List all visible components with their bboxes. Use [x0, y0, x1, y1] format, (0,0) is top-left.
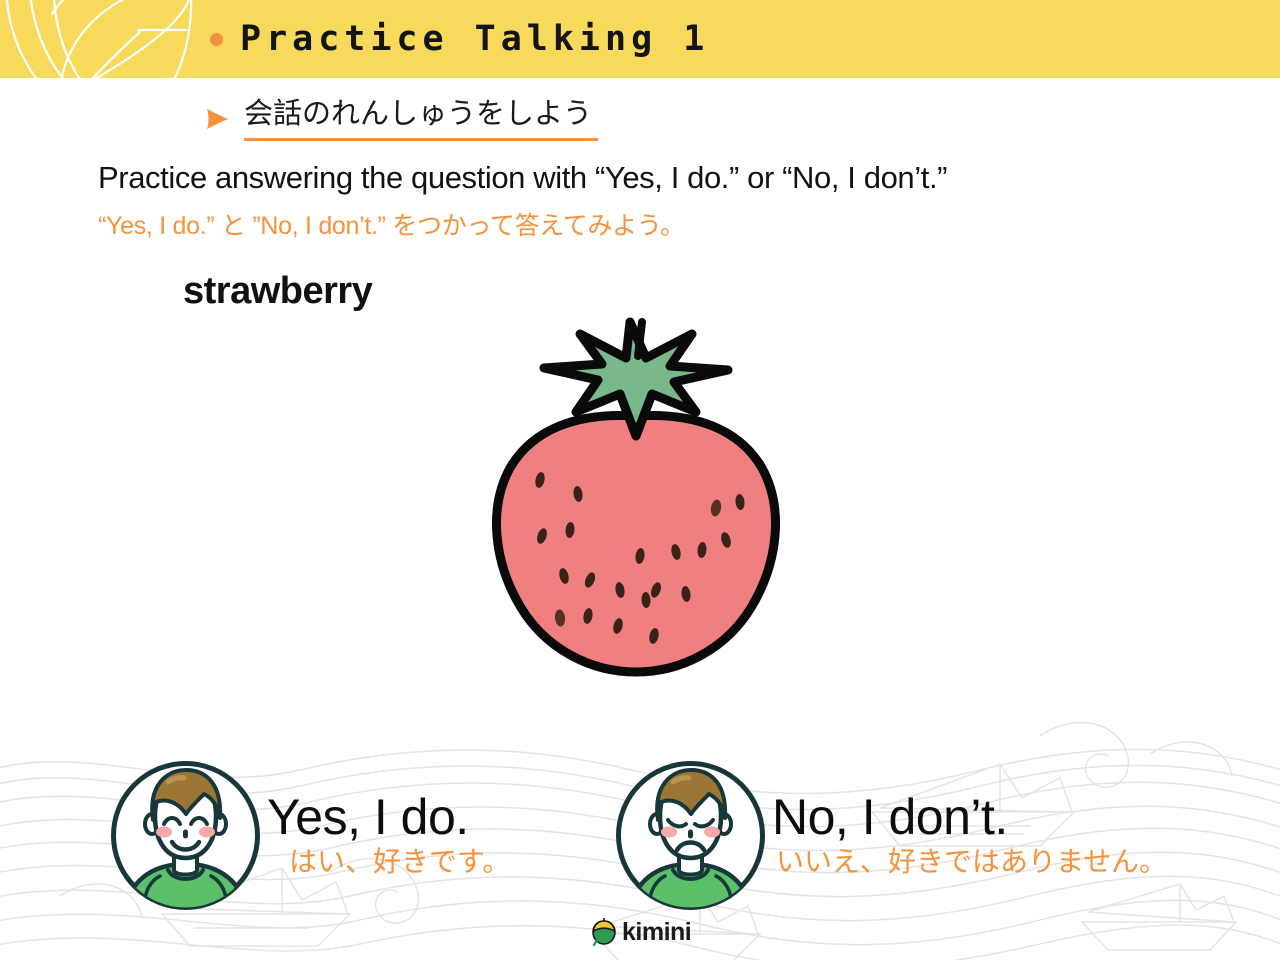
vocabulary-word: strawberry: [183, 270, 372, 313]
answer-row-no: No, I don’t. いいえ、好きではありません。: [613, 758, 1167, 913]
answer-japanese-yes: はい、好きです。: [267, 846, 510, 878]
answer-row-yes: Yes, I do. はい、好きです。: [108, 758, 510, 913]
strawberry-illustration: [480, 308, 792, 680]
answer-japanese-no: いいえ、好きではありません。: [772, 846, 1167, 878]
answer-english-no: No, I don’t.: [772, 792, 1167, 842]
header-band: Practice Talking 1: [0, 0, 1280, 78]
page-title: Practice Talking 1: [240, 19, 709, 59]
subtitle-row: 会話のれんしゅうをしよう: [204, 96, 598, 141]
leaf-swirl-decoration-icon: [0, 0, 240, 78]
slide-canvas: Practice Talking 1 会話のれんしゅうをしよう Practice…: [0, 0, 1280, 960]
boy-sad-avatar: [613, 758, 768, 913]
kimini-logo: kimini: [591, 918, 691, 946]
answer-texts-no: No, I don’t. いいえ、好きではありません。: [772, 792, 1167, 878]
answer-english-yes: Yes, I do.: [267, 792, 510, 842]
kimini-wordmark: kimini: [622, 920, 691, 945]
instruction-japanese: “Yes, I do.” と ”No, I don’t.” をつかって答えてみよ…: [98, 206, 685, 242]
triangle-right-arrow-icon: [204, 106, 230, 132]
bullet-dot-icon: [210, 33, 223, 46]
answer-texts-yes: Yes, I do. はい、好きです。: [267, 792, 510, 878]
kimini-acorn-logo-icon: [591, 918, 617, 946]
subtitle-text: 会話のれんしゅうをしよう: [244, 96, 598, 141]
instruction-english: Practice answering the question with “Ye…: [98, 160, 947, 196]
boy-happy-avatar: [108, 758, 263, 913]
